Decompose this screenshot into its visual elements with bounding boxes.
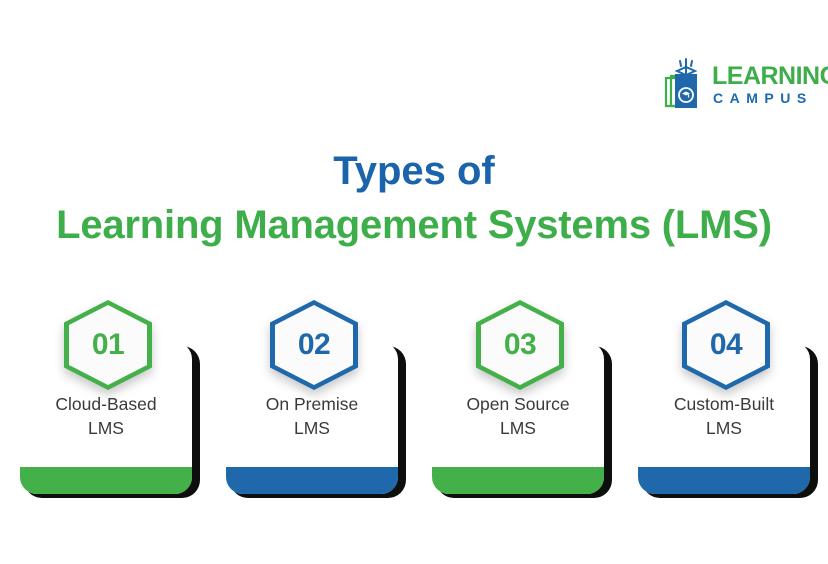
card-number-badge: 03 xyxy=(476,300,564,390)
book-stack-graduation-icon xyxy=(662,58,708,110)
lms-type-card[interactable]: Open Source LMS 03 xyxy=(432,300,608,498)
brand-word-campus: CAMPUS xyxy=(713,91,828,105)
page-title: Types of Learning Management Systems (LM… xyxy=(0,148,828,248)
card-number-badge: 04 xyxy=(682,300,770,390)
card-number: 02 xyxy=(298,328,330,362)
card-accent-bar xyxy=(20,467,192,494)
brand-word-learning: LEARNING xyxy=(712,64,828,89)
brand-logo-text: LEARNING CAMPUS xyxy=(712,64,828,105)
lms-type-card[interactable]: Cloud-Based LMS 01 xyxy=(20,300,196,498)
card-accent-bar xyxy=(226,467,398,494)
card-label-line-1: Custom-Built xyxy=(674,394,774,414)
page-title-line-2: Learning Management Systems (LMS) xyxy=(0,202,828,248)
brand-logo[interactable]: LEARNING CAMPUS xyxy=(662,55,822,113)
card-accent-bar xyxy=(638,467,810,494)
lms-type-card[interactable]: On Premise LMS 02 xyxy=(226,300,402,498)
card-label-line-2: LMS xyxy=(706,418,742,438)
card-number: 03 xyxy=(504,328,536,362)
card-label-line-2: LMS xyxy=(88,418,124,438)
card-number: 04 xyxy=(710,328,742,362)
card-label-line-2: LMS xyxy=(500,418,536,438)
card-label-line-1: On Premise xyxy=(266,394,358,414)
card-number-badge: 02 xyxy=(270,300,358,390)
lms-type-card[interactable]: Custom-Built LMS 04 xyxy=(638,300,814,498)
card-label-line-2: LMS xyxy=(294,418,330,438)
card-accent-bar xyxy=(432,467,604,494)
card-number-badge: 01 xyxy=(64,300,152,390)
card-label-line-1: Open Source xyxy=(466,394,569,414)
page-title-line-1: Types of xyxy=(0,148,828,194)
card-label-line-1: Cloud-Based xyxy=(55,394,156,414)
lms-type-card-row: Cloud-Based LMS 01 On Premise LMS 02 xyxy=(20,300,808,510)
card-number: 01 xyxy=(92,328,124,362)
